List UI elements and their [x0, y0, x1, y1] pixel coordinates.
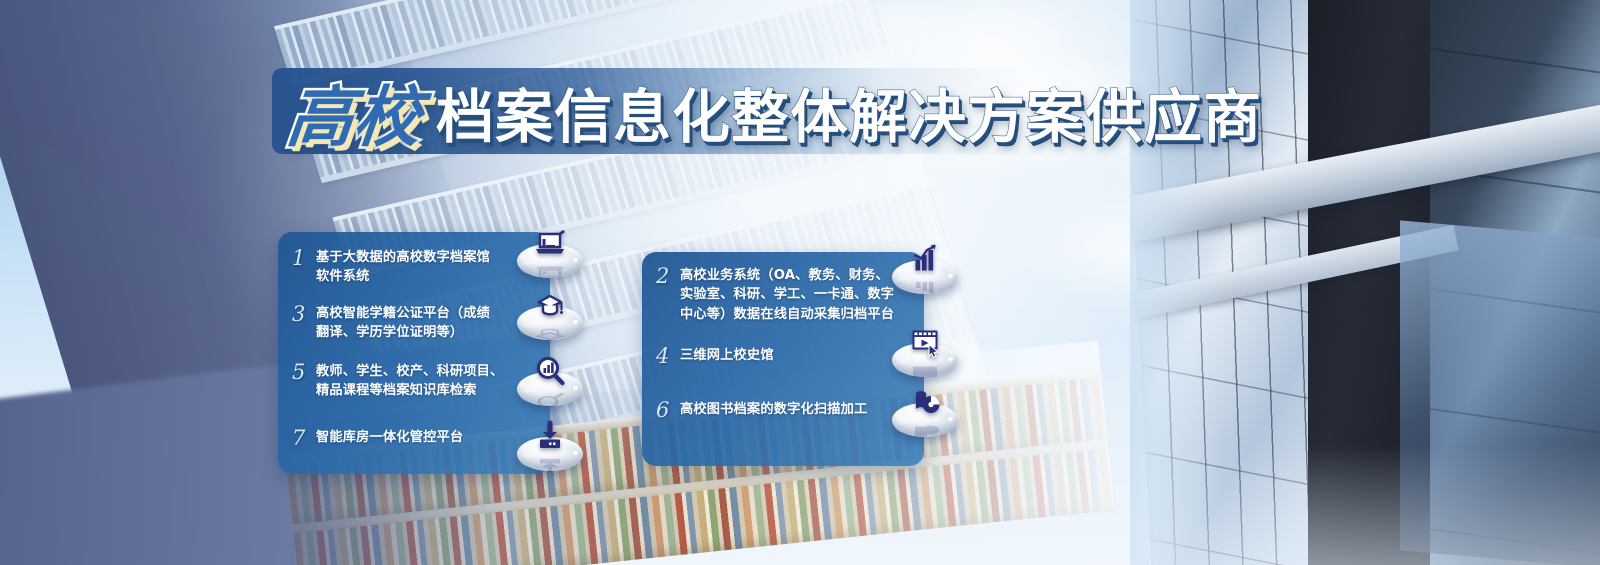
item-number: 2: [656, 266, 680, 287]
title-highlight-text: 高校: [279, 64, 431, 160]
item-label: 高校业务系统（OA、教务、财务、 实验室、科研、学工、一卡通、数字 中心等）数据…: [680, 266, 894, 324]
list-item[interactable]: 3 高校智能学籍公证平台（成绩 翻译、学历学位证明等）: [292, 304, 510, 343]
item-label: 基于大数据的高校数字档案馆 软件系统: [316, 248, 490, 287]
item-number: 5: [292, 362, 316, 383]
list-item[interactable]: 4 三维网上校史馆: [656, 346, 902, 367]
list-item[interactable]: 6 高校图书档案的数字化扫描加工: [656, 400, 902, 421]
solutions-panel-odd: 1 基于大数据的高校数字档案馆 软件系统 3 高校智能学籍公证平台（成绩 翻译、…: [278, 232, 550, 474]
item-label: 高校图书档案的数字化扫描加工: [680, 400, 867, 419]
item-label: 智能库房一体化管控平台: [316, 428, 463, 447]
list-item[interactable]: 5 教师、学生、校产、科研项目、 精品课程等档案知识库检索: [292, 362, 522, 401]
building-bottom-fade: [1130, 445, 1600, 565]
item-number: 4: [656, 346, 680, 367]
title-banner: 高校 档案信息化整体解决方案供应商: [272, 68, 1172, 154]
item-label: 教师、学生、校产、科研项目、 精品课程等档案知识库检索: [316, 362, 503, 401]
list-item[interactable]: 7 智能库房一体化管控平台: [292, 428, 510, 449]
title-rest-text: 档案信息化整体解决方案供应商: [436, 70, 1262, 154]
item-number: 3: [292, 304, 316, 325]
list-item[interactable]: 2 高校业务系统（OA、教务、财务、 实验室、科研、学工、一卡通、数字 中心等）…: [656, 266, 902, 324]
item-number: 7: [292, 428, 316, 449]
page-title: 高校 档案信息化整体解决方案供应商: [284, 64, 1262, 160]
solutions-panel-even: 2 高校业务系统（OA、教务、财务、 实验室、科研、学工、一卡通、数字 中心等）…: [642, 252, 924, 466]
item-number: 1: [292, 248, 316, 269]
item-label: 三维网上校史馆: [680, 346, 774, 365]
list-item[interactable]: 1 基于大数据的高校数字档案馆 软件系统: [292, 248, 510, 287]
item-number: 6: [656, 400, 680, 421]
item-label: 高校智能学籍公证平台（成绩 翻译、学历学位证明等）: [316, 304, 490, 343]
